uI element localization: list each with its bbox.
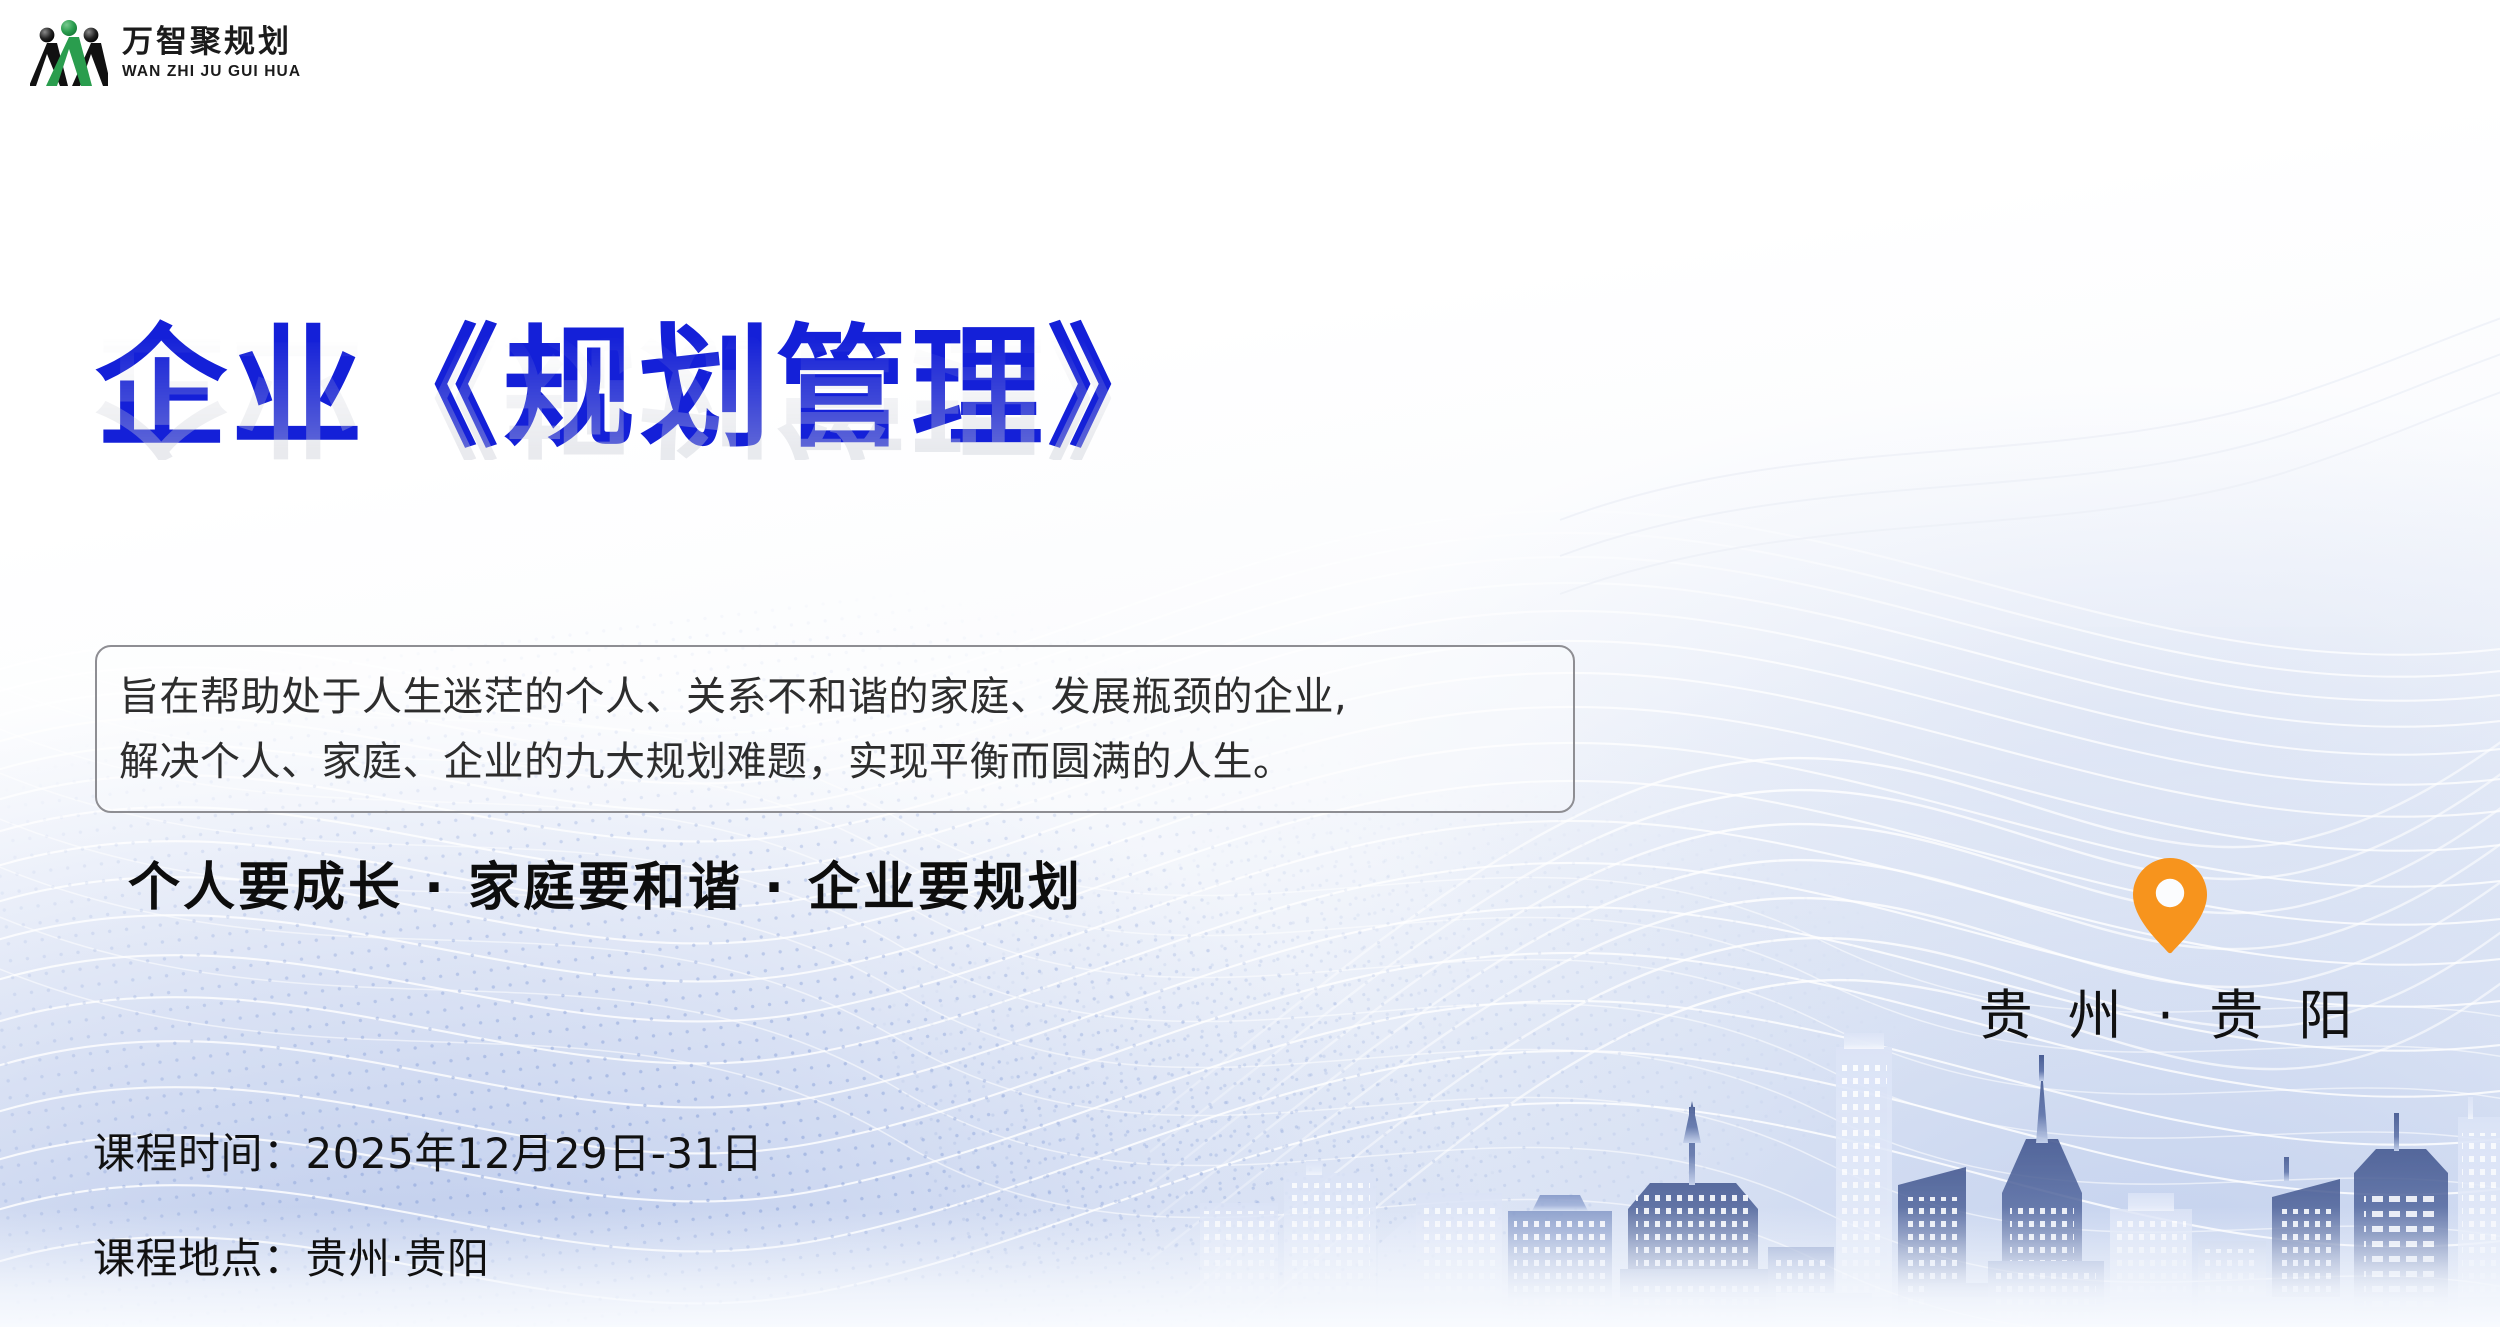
- description-line-2: 解决个人、家庭、企业的九大规划难题，实现平衡而圆满的人生。: [119, 730, 1551, 795]
- brand-name-cn: 万智聚规划: [122, 26, 301, 57]
- brand-name-pinyin: WAN ZHI JU GUI HUA: [122, 64, 301, 80]
- schedule-info: 课程时间：2025年12月29日-31日 课程地点：贵州·贵阳: [93, 1120, 763, 1286]
- hero-title-block: 企业《规划管理》 企业《规划管理》: [95, 322, 1183, 596]
- location-badge: 贵 州 · 贵 阳: [1950, 855, 2390, 1050]
- description-box: 旨在帮助处于人生迷茫的个人、关系不和谐的家庭、发展瓶颈的企业, 解决个人、家庭、…: [95, 645, 1575, 813]
- three-people-logo-icon: [30, 16, 108, 90]
- brand-logo[interactable]: 万智聚规划 WAN ZHI JU GUI HUA: [30, 16, 301, 90]
- page-title-reflection: 企业《规划管理》: [95, 324, 1183, 460]
- course-time: 课程时间：2025年12月29日-31日: [93, 1120, 763, 1181]
- map-pin-icon: [2128, 855, 2212, 955]
- course-place: 课程地点：贵州·贵阳: [93, 1225, 763, 1286]
- promo-banner: 万智聚规划 WAN ZHI JU GUI HUA 企业《规划管理》 企业《规划管…: [0, 0, 2500, 1327]
- description-line-1: 旨在帮助处于人生迷茫的个人、关系不和谐的家庭、发展瓶颈的企业,: [119, 665, 1551, 730]
- brand-logo-text: 万智聚规划 WAN ZHI JU GUI HUA: [122, 26, 301, 80]
- location-name: 贵 州 · 贵 阳: [1950, 971, 2390, 1050]
- slogan-text: 个人要成长 · 家庭要和谐 · 企业要规划: [128, 845, 1083, 920]
